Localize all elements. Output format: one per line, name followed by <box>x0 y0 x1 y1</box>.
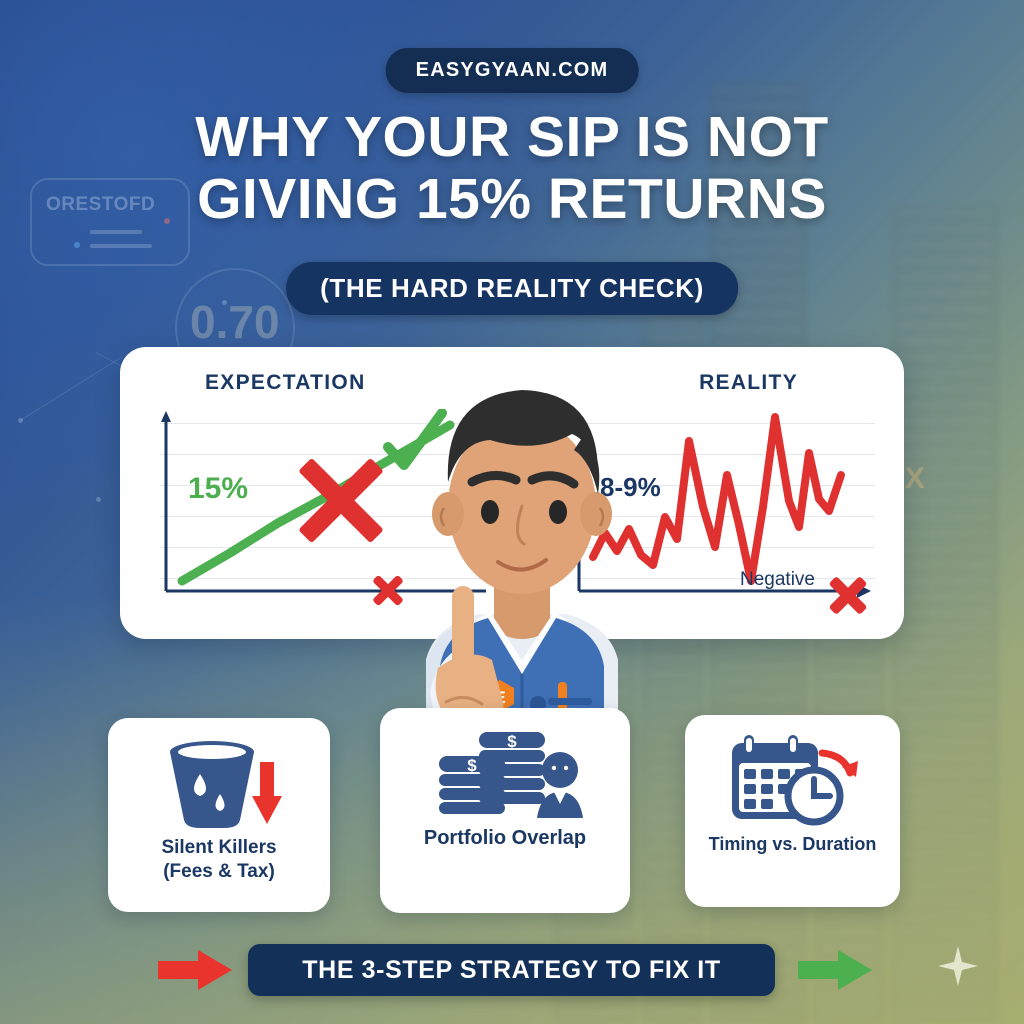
feature-card-label: Portfolio Overlap <box>416 826 594 852</box>
right-arrow-icon <box>798 948 872 992</box>
negative-annotation: Negative <box>740 569 815 591</box>
feature-label-line-2: (Fees & Tax) <box>163 861 275 882</box>
red-x-axis-end-icon <box>826 573 870 617</box>
feature-card-label: Timing vs. Duration <box>701 833 885 856</box>
left-arrow-icon <box>158 948 232 992</box>
page-title: WHY YOUR SIP IS NOT GIVING 15% RETURNS <box>0 107 1024 230</box>
reality-panel-title: REALITY <box>699 371 798 395</box>
feature-card-portfolio-overlap[interactable]: $ $ Portfolio Overlap <box>380 708 630 913</box>
feature-card-silent-killers[interactable]: Silent Killers (Fees & Tax) <box>108 718 330 912</box>
site-badge: EASYGYAAN.COM <box>386 48 639 93</box>
svg-text:$: $ <box>507 732 517 751</box>
calendar-clock-icon <box>718 729 868 833</box>
leaking-bucket-icon <box>154 732 284 836</box>
cta-banner[interactable]: THE 3-STEP STRATEGY TO FIX IT <box>248 944 775 996</box>
cta-label: THE 3-STEP STRATEGY TO FIX IT <box>302 956 720 985</box>
svg-text:$: $ <box>467 756 477 775</box>
page-title-line-2: GIVING 15% RETURNS <box>0 169 1024 231</box>
expectation-value-label: 15% <box>188 472 248 506</box>
advisor-illustration: E <box>386 330 658 750</box>
feature-label-line-1: Silent Killers <box>161 837 276 858</box>
page-title-line-1: WHY YOUR SIP IS NOT <box>0 107 1024 169</box>
red-x-overlay-icon <box>290 449 392 551</box>
expectation-panel-title: EXPECTATION <box>205 371 366 395</box>
feature-card-timing-duration[interactable]: Timing vs. Duration <box>685 715 900 907</box>
watermark-value: 0.70 <box>190 295 280 349</box>
subtitle-badge: (THE HARD REALITY CHECK) <box>286 262 738 315</box>
feature-card-label: Silent Killers (Fees & Tax) <box>153 836 284 885</box>
money-stack-investor-icon: $ $ <box>425 722 585 826</box>
